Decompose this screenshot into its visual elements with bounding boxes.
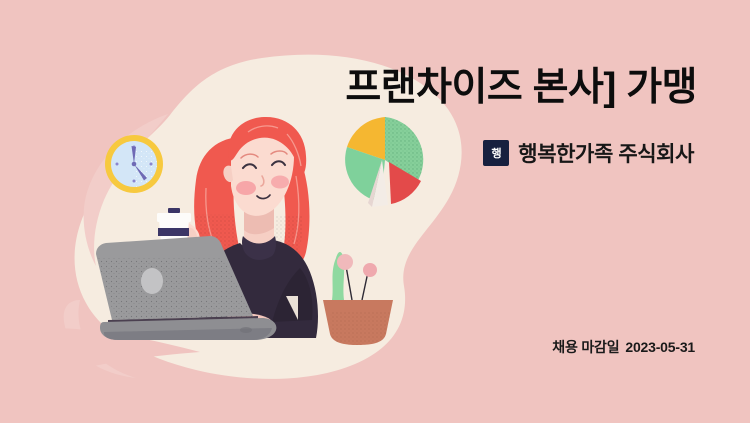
cup-lid-tab <box>168 208 180 213</box>
flower-bud-2 <box>363 263 377 277</box>
laptop-trackpad <box>240 327 252 333</box>
deadline-date: 2023-05-31 <box>625 339 695 355</box>
cup-lid <box>157 213 191 222</box>
plant-pot-texture <box>330 312 394 346</box>
page-title: 프랜차이즈 본사] 가맹 <box>345 68 697 107</box>
deadline-label: 채용 마감일 <box>552 339 619 355</box>
cheek-blush-right <box>271 176 289 189</box>
cheek-blush-left <box>236 181 256 195</box>
clock-center-pin <box>132 162 137 167</box>
illustration-layer <box>0 0 750 423</box>
cup-sleeve-top <box>158 228 189 236</box>
company-identity: 행 행복한가족 주식회사 <box>483 138 694 168</box>
recruitment-banner: 프랜차이즈 본사] 가맹 행 행복한가족 주식회사 채용 마감일2023-05-… <box>0 0 750 423</box>
company-logo-badge: 행 <box>483 140 509 166</box>
wall-clock <box>105 135 164 193</box>
flower-stem-1 <box>346 266 352 300</box>
laptop-logo <box>141 268 163 294</box>
potted-plant <box>323 252 394 346</box>
deadline-row: 채용 마감일2023-05-31 <box>552 337 695 357</box>
company-name: 행복한가족 주식회사 <box>518 138 694 168</box>
flower-bud-1 <box>337 254 353 270</box>
pie-chart-graphic <box>345 117 423 207</box>
